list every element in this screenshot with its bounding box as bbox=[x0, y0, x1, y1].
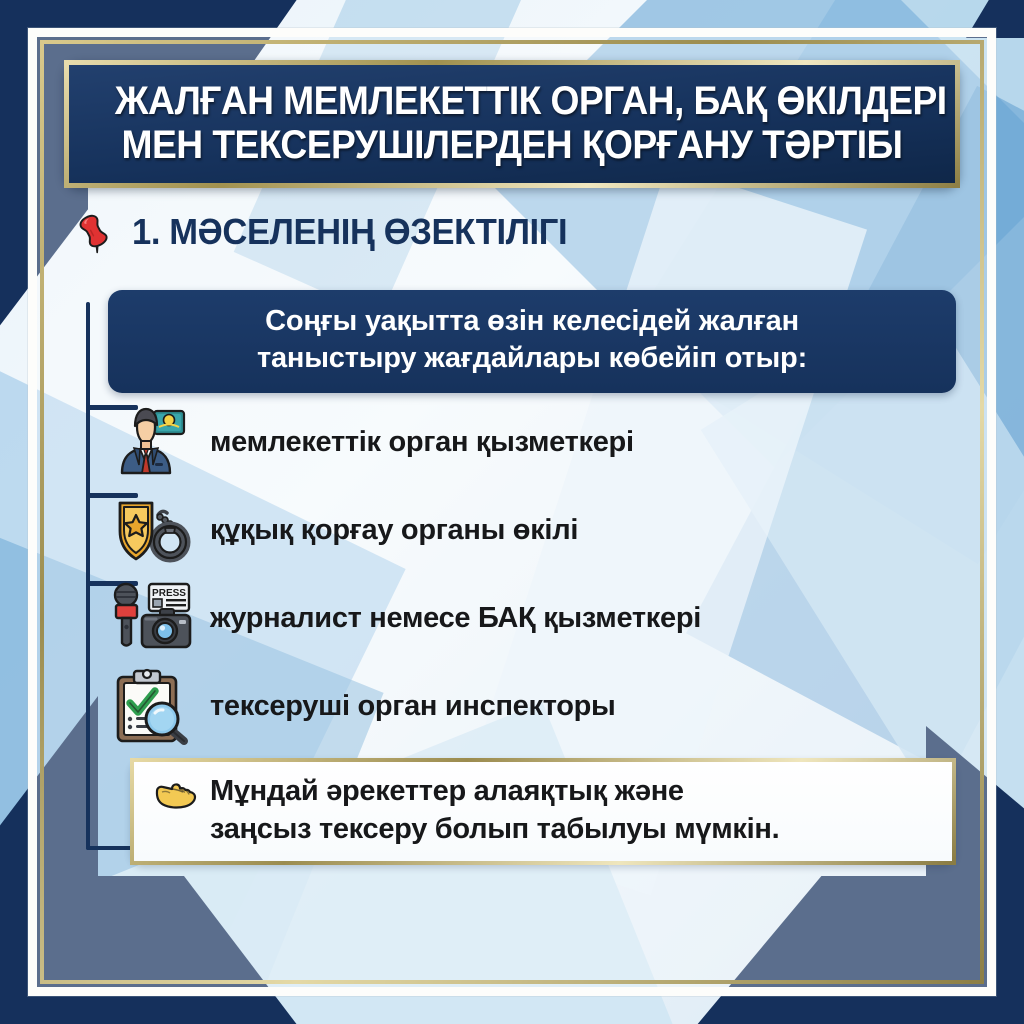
clipboard-magnifier-icon bbox=[108, 667, 192, 745]
connector-rail bbox=[86, 302, 90, 850]
conclusion-note-text: Мұндай әрекеттер алаяқтық және заңсыз те… bbox=[210, 773, 779, 848]
list-item: мемлекеттік орган қызметкері bbox=[108, 398, 962, 486]
impersonation-list: мемлекеттік орган қызметкері bbox=[108, 398, 962, 750]
list-item: құқық қорғау органы өкілі bbox=[108, 486, 962, 574]
intro-line-2: таныстыру жағдайлары көбейіп отыр: bbox=[134, 340, 930, 377]
press-microphone-camera-icon: PRESS bbox=[108, 579, 192, 657]
conclusion-line-1: Мұндай әрекеттер алаяқтық және bbox=[210, 773, 779, 811]
intro-line-1: Соңғы уақытта өзін келесідей жалған bbox=[134, 303, 930, 340]
conclusion-line-2: заңсыз тексеру болып табылуы мүмкін. bbox=[210, 811, 779, 849]
infographic-poster: ЖАЛҒАН МЕМЛЕКЕТТІК ОРГАН, БАҚ ӨКІЛДЕРІ М… bbox=[0, 0, 1024, 1024]
list-item-label: құқық қорғау органы өкілі bbox=[210, 514, 578, 547]
poster-title-line-1: ЖАЛҒАН МЕМЛЕКЕТТІК ОРГАН, БАҚ ӨКІЛДЕРІ bbox=[115, 79, 909, 123]
poster-title-line-2: МЕН ТЕКСЕРУШІЛЕРДЕН ҚОРҒАНУ ТӘРТІБІ bbox=[115, 123, 909, 167]
pushpin-icon bbox=[70, 208, 118, 256]
list-item: PRESS bbox=[108, 574, 962, 662]
pointing-hand-right-icon bbox=[152, 779, 198, 813]
police-badge-handcuffs-icon bbox=[108, 491, 192, 569]
list-item-label: мемлекеттік орган қызметкері bbox=[210, 426, 634, 459]
list-item-label: тексеруші орган инспекторы bbox=[210, 690, 616, 723]
title-plaque: ЖАЛҒАН МЕМЛЕКЕТТІК ОРГАН, БАҚ ӨКІЛДЕРІ М… bbox=[64, 60, 960, 188]
list-item-label: журналист немесе БАҚ қызметкері bbox=[210, 602, 701, 635]
poster-content: ЖАЛҒАН МЕМЛЕКЕТТІК ОРГАН, БАҚ ӨКІЛДЕРІ М… bbox=[52, 52, 972, 972]
conclusion-note-box: Мұндай әрекеттер алаяқтық және заңсыз те… bbox=[130, 758, 956, 865]
list-item: тексеруші орган инспекторы bbox=[108, 662, 962, 750]
intro-banner: Соңғы уақытта өзін келесідей жалған таны… bbox=[108, 290, 956, 393]
svg-text:PRESS: PRESS bbox=[152, 588, 186, 599]
government-officer-icon bbox=[108, 403, 192, 481]
section-title-text: 1. МӘСЕЛЕНІҢ ӨЗЕКТІЛІГІ bbox=[132, 211, 567, 253]
section-heading: 1. МӘСЕЛЕНІҢ ӨЗЕКТІЛІГІ bbox=[70, 208, 585, 256]
